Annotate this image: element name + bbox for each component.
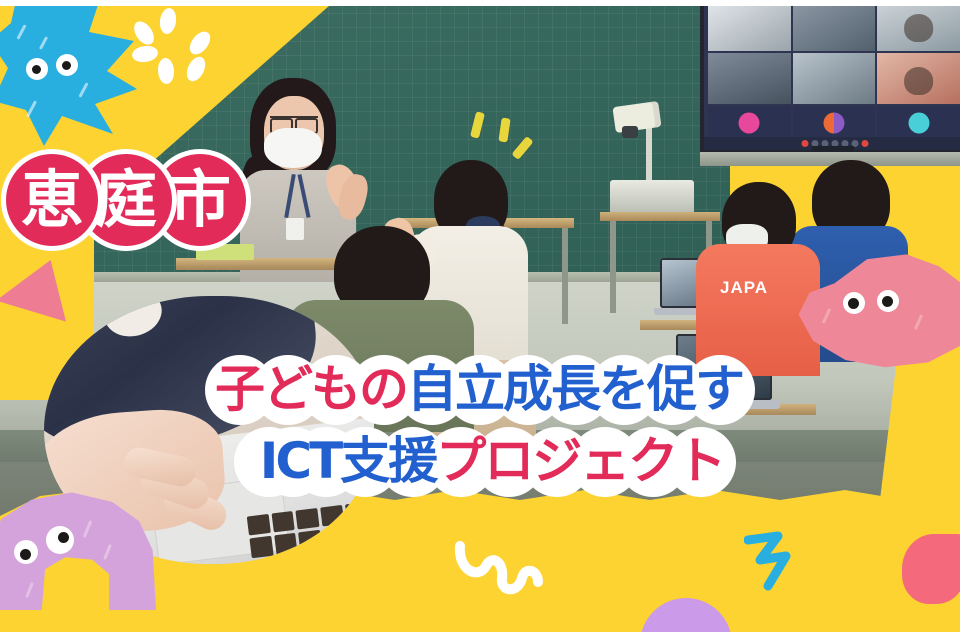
headline-char: 立: [452, 356, 508, 424]
headline-char: プ: [433, 428, 489, 496]
headline-char: ロ: [481, 428, 537, 496]
headline-char: 促: [644, 356, 700, 424]
headline-char: 成: [500, 356, 556, 424]
headline-char: 子: [212, 356, 268, 424]
headline-char-glyph: も: [311, 360, 361, 418]
headline-char-glyph: ジ: [532, 432, 582, 490]
video-tile: [877, 53, 960, 104]
headline-char: 長: [548, 356, 604, 424]
document-camera-base: [610, 180, 694, 214]
teacher-face-mask: [264, 128, 322, 168]
participant-avatar: [708, 106, 791, 140]
document-camera-lens: [622, 126, 638, 138]
headline-char: ク: [625, 428, 681, 496]
headline-char: ト: [673, 428, 729, 496]
city-badge: 恵 庭 市: [6, 146, 246, 254]
headline-char-glyph: 子: [215, 360, 265, 418]
video-tile: [877, 0, 960, 51]
headline-char-glyph: ど: [263, 360, 313, 418]
video-avatar-row: [708, 106, 960, 140]
frame-bottom: [0, 632, 960, 640]
lilac-blob-character: [0, 490, 156, 610]
desk-leg: [562, 228, 568, 324]
video-tile: [793, 53, 876, 104]
video-conference-display: [700, 0, 960, 154]
headline-line-2: ICT支援プロジェクト: [0, 428, 960, 496]
blue-zigzag-decoration: [744, 530, 832, 592]
blob-eye: [56, 54, 78, 76]
video-tile: [793, 0, 876, 51]
headline-char-glyph: ェ: [580, 432, 630, 490]
pink-blob-shape: [795, 252, 960, 372]
blob-eye: [843, 292, 865, 314]
headline-char: 自: [404, 356, 460, 424]
headline-char: 支: [337, 428, 393, 496]
desk-leg: [610, 221, 616, 313]
headline-char-glyph: 成: [503, 360, 553, 418]
headline-char-glyph: 長: [551, 360, 601, 418]
blob-eye: [46, 526, 74, 554]
headline-char-glyph: C: [275, 432, 311, 490]
headline-char-glyph: 促: [647, 360, 697, 418]
headline-line-1: 子どもの自立成長を促す: [0, 356, 960, 424]
headline-char-glyph: す: [695, 360, 745, 418]
poster-canvas: JAPA: [0, 0, 960, 640]
blue-blob-character: [0, 0, 140, 146]
headline-char: C: [272, 428, 314, 496]
video-tile: [708, 0, 791, 51]
headline-char: ジ: [529, 428, 585, 496]
shirt-logo: JAPA: [720, 278, 780, 298]
blob-eye: [877, 290, 899, 312]
headline-char-glyph: T: [309, 432, 342, 490]
headline-char: 援: [385, 428, 441, 496]
headline: 子どもの自立成長を促す ICT支援プロジェクト: [0, 356, 960, 500]
headline-char: ェ: [577, 428, 633, 496]
headline-char: を: [596, 356, 652, 424]
headline-char-glyph: を: [599, 360, 649, 418]
blob-eye: [14, 540, 38, 564]
headline-char-glyph: プ: [436, 432, 486, 490]
headline-char-glyph: 立: [455, 360, 505, 418]
headline-char-glyph: 援: [388, 432, 438, 490]
participant-avatar: [793, 106, 876, 140]
headline-char-glyph: 自: [407, 360, 457, 418]
pink-blob-character: [795, 252, 960, 372]
headline-char: ど: [260, 356, 316, 424]
headline-char-glyph: ト: [676, 432, 726, 490]
headline-char: の: [356, 356, 412, 424]
headline-char-glyph: ロ: [484, 432, 534, 490]
headline-char-glyph: 支: [340, 432, 390, 490]
headline-char-glyph: の: [359, 360, 409, 418]
video-tile-grid: [708, 0, 960, 104]
city-badge-char: 恵: [6, 154, 98, 246]
video-tile: [708, 53, 791, 104]
headline-char-glyph: ク: [628, 432, 678, 490]
headline-char: も: [308, 356, 364, 424]
coral-bump-decoration: [902, 534, 960, 604]
frame-top: [0, 0, 960, 6]
headline-char: す: [692, 356, 748, 424]
blob-eye: [26, 58, 48, 80]
participant-avatar: [877, 106, 960, 140]
white-squiggle-decoration: [452, 540, 562, 610]
